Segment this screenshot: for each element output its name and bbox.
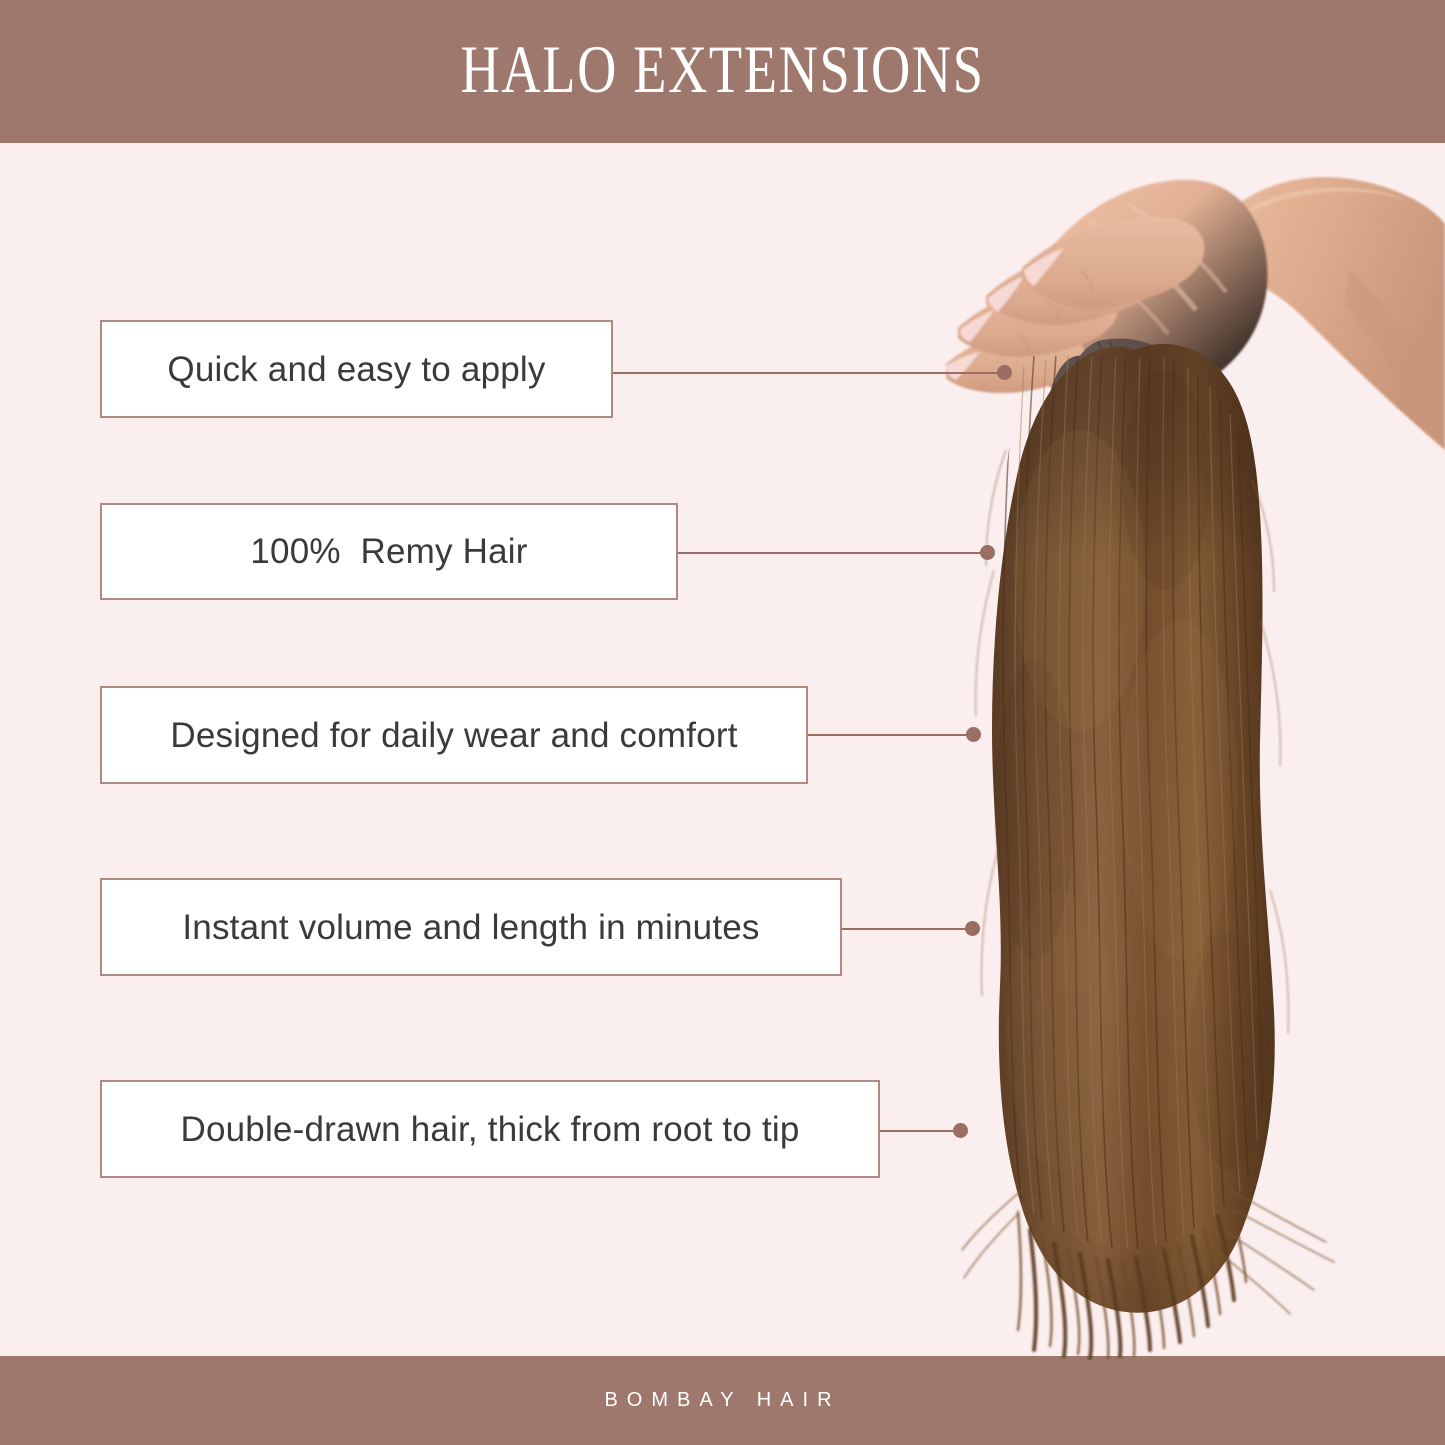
- connector-line-5: [880, 1130, 954, 1132]
- feature-box-instant-volume-and-length-in-minutes[interactable]: Instant volume and length in minutes: [100, 878, 842, 976]
- feature-label: Double-drawn hair, thick from root to ti…: [180, 1112, 799, 1147]
- header-bar: HALO EXTENSIONS: [0, 0, 1445, 143]
- feature-box-100-remy-hair[interactable]: 100% Remy Hair: [100, 503, 678, 600]
- product-photo-hand-holding-halo-extension: [930, 150, 1445, 1360]
- feature-label: 100% Remy Hair: [250, 534, 527, 569]
- feature-label: Instant volume and length in minutes: [182, 910, 759, 945]
- connector-line-1: [613, 372, 998, 374]
- footer-bar: BOMBAY HAIR: [0, 1356, 1445, 1445]
- connector-dot-5: [953, 1123, 968, 1138]
- feature-label: Designed for daily wear and comfort: [170, 718, 737, 753]
- feature-box-designed-for-daily-wear-and-comfort[interactable]: Designed for daily wear and comfort: [100, 686, 808, 784]
- connector-line-2: [678, 552, 981, 554]
- connector-dot-4: [965, 921, 980, 936]
- connector-dot-2: [980, 545, 995, 560]
- infographic-page: HALO EXTENSIONS Quick and easy to apply …: [0, 0, 1445, 1445]
- connector-line-4: [842, 928, 966, 930]
- connector-dot-3: [966, 727, 981, 742]
- brand-name: BOMBAY HAIR: [604, 1389, 840, 1412]
- hair-length: [962, 344, 1334, 1358]
- feature-box-quick-and-easy-to-apply[interactable]: Quick and easy to apply: [100, 320, 613, 418]
- connector-line-3: [808, 734, 967, 736]
- feature-box-double-drawn-hair-thick-from-root-to-tip[interactable]: Double-drawn hair, thick from root to ti…: [100, 1080, 880, 1178]
- page-title: HALO EXTENSIONS: [460, 35, 984, 109]
- connector-dot-1: [997, 365, 1012, 380]
- feature-label: Quick and easy to apply: [167, 352, 545, 387]
